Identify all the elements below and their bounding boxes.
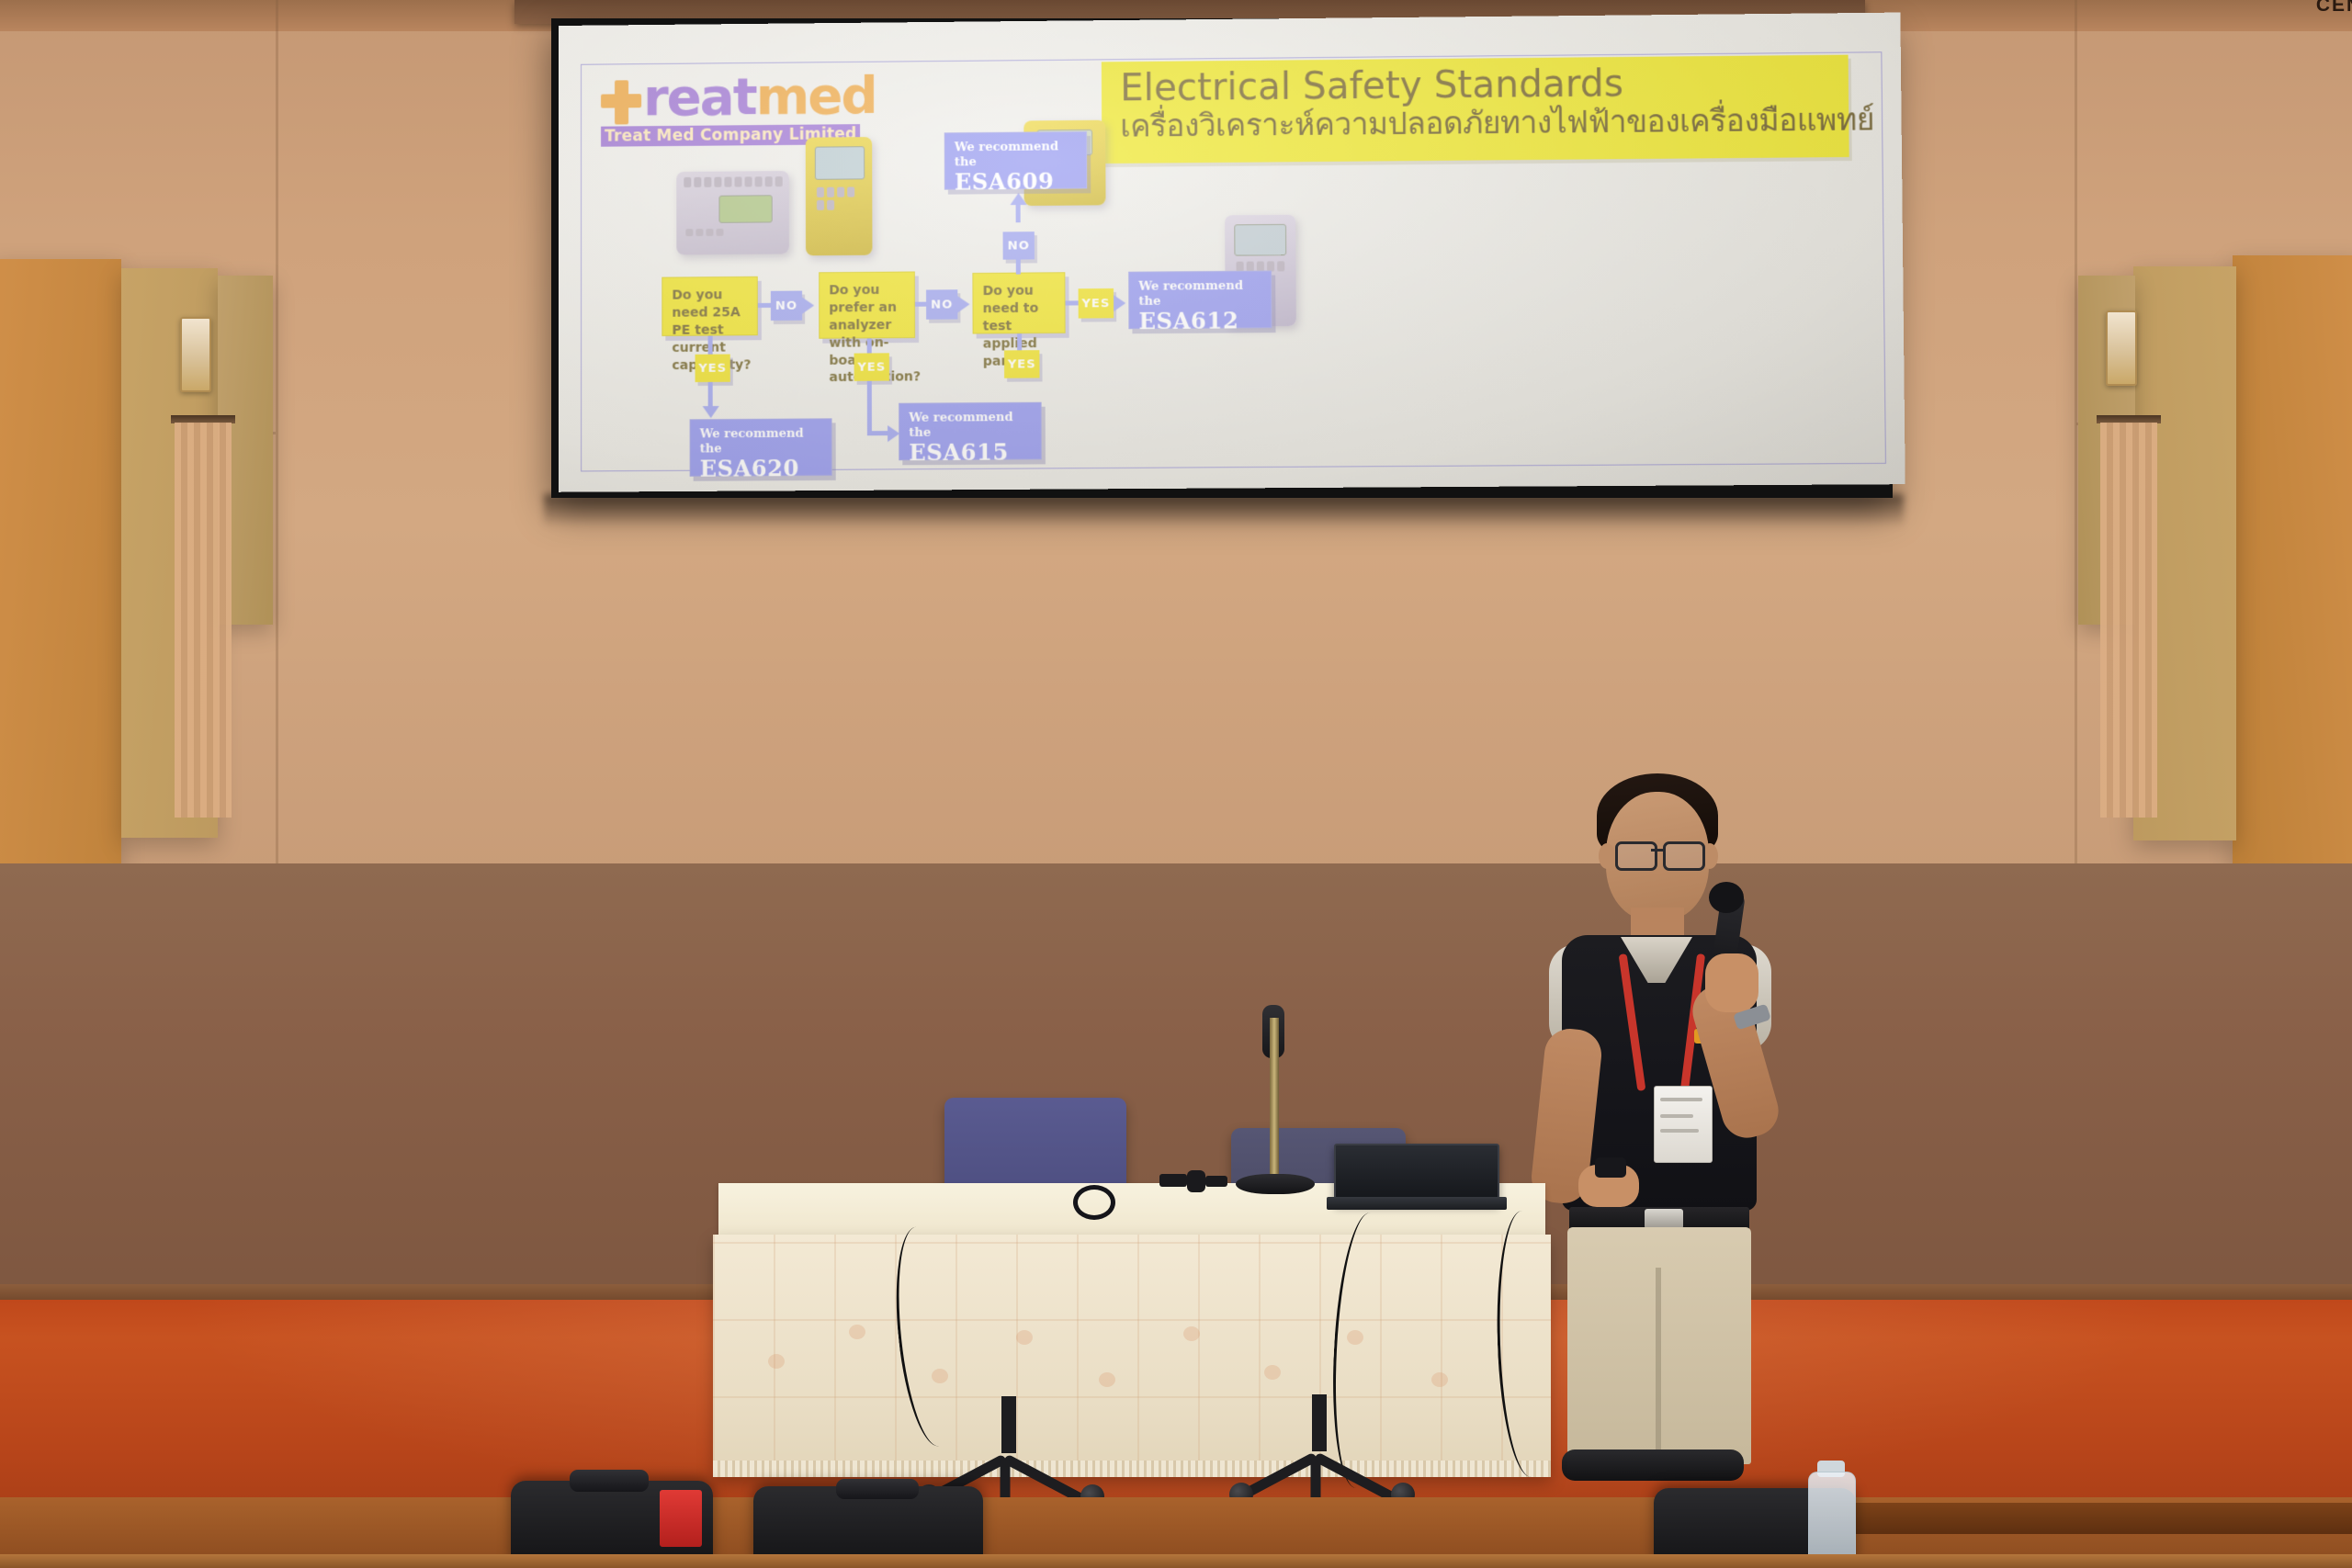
curtain-right (2100, 423, 2157, 818)
recommend-model-612: ESA612 (1138, 308, 1261, 334)
analyzer-device-esa620-image (676, 171, 789, 254)
acoustic-panel-right-outer (2233, 255, 2352, 866)
connector-d2-yes-right (867, 431, 888, 435)
case-handle-1 (570, 1470, 649, 1492)
decision-box-2: Do you prefer an analyzer with on-board … (819, 271, 915, 338)
shoe-right (1641, 1450, 1744, 1481)
beam-room-name: CENTER (2242, 0, 2352, 18)
glasses-bridge (1651, 849, 1664, 852)
presenter-hand-right (1705, 953, 1758, 1012)
connector-d3-no-up (1016, 202, 1021, 222)
connector-d1-yes-down (708, 336, 713, 355)
slide-surface: reatmed Treat Med Company Limited Electr… (559, 13, 1905, 492)
logo-text-reat: reat (643, 67, 756, 128)
spare-microphone-on-table (1159, 1168, 1227, 1196)
arrow-right-2 (957, 296, 969, 312)
decision-box-1: Do you need 25A PE test current capabili… (661, 276, 758, 336)
connector-d1-no (758, 303, 771, 308)
screen-drop-shadow (544, 494, 1904, 527)
recommend-box-esa612: We recommend the ESA612 (1128, 270, 1272, 329)
connector-d2-no (915, 302, 926, 307)
red-object-foreground (660, 1490, 702, 1547)
recommend-prefix-615: We recommend the (909, 411, 1031, 440)
id-badge (1654, 1086, 1713, 1163)
arrow-right-1 (802, 297, 814, 313)
recommend-prefix-620: We recommend the (700, 426, 822, 456)
decision-box-3: Do you need to test applied parts? (972, 272, 1065, 333)
recommend-box-esa609: We recommend the ESA609 (944, 131, 1088, 190)
label-no-3: NO (1003, 231, 1035, 259)
water-bottle (1808, 1472, 1856, 1565)
label-yes-4: YES (1004, 350, 1040, 378)
microphone-head (1709, 882, 1744, 913)
projection-screen: reatmed Treat Med Company Limited Electr… (551, 18, 1893, 498)
slide-title-banner: Electrical Safety Standards เครื่องวิเคร… (1102, 55, 1849, 164)
foreground-dark-strip (1801, 1503, 2352, 1534)
connector-d1-yes-down2 (708, 382, 713, 406)
connector-d2-yes-down (867, 338, 872, 353)
trouser-seam (1656, 1268, 1661, 1464)
presenter-ear-left (1599, 843, 1615, 869)
tablecloth-lace-trim (713, 1461, 1551, 1477)
acoustic-panel-left-outer (0, 259, 121, 865)
desk-microphone-base (1236, 1174, 1315, 1194)
headset-on-table (1073, 1185, 1115, 1220)
label-yes-2: YES (854, 353, 889, 381)
laptop[interactable] (1327, 1144, 1494, 1208)
connector-d3-no-down (1016, 260, 1021, 275)
connector-d3-yes (1065, 300, 1078, 305)
glasses-icon (1663, 841, 1705, 871)
label-yes-1: YES (695, 355, 730, 382)
arrow-down-1 (703, 406, 719, 418)
recommend-model-620: ESA620 (700, 456, 822, 482)
presenter (1525, 753, 1792, 1479)
label-no-1: NO (771, 291, 802, 321)
label-yes-3: YES (1079, 288, 1114, 319)
medical-cross-icon (601, 80, 641, 124)
connector-d2-yes-down2 (867, 381, 872, 435)
slide-title-thai: เครื่องวิเคราะห์ความปลอดภัยทางไฟฟ้าของเค… (1120, 103, 1834, 143)
analyzer-device-esa615-image (806, 137, 873, 255)
presentation-room-photo: CENTER reatmed Treat Med Company Limited… (0, 0, 2352, 1568)
label-no-2: NO (926, 289, 957, 319)
arrow-right-3 (1114, 295, 1125, 311)
desk-microphone-stand (1270, 1018, 1279, 1185)
curtain-left (175, 423, 232, 818)
glasses-icon (1615, 841, 1657, 871)
belt-buckle (1645, 1209, 1683, 1229)
presentation-clicker (1595, 1157, 1626, 1178)
recommend-prefix-612: We recommend the (1138, 279, 1261, 309)
lace-tablecloth (713, 1235, 1551, 1475)
wall-light-fixture-left (180, 317, 211, 392)
recommend-model-615: ESA615 (909, 439, 1031, 466)
foreground-wooden-rail (0, 1554, 2352, 1568)
recommend-model-609: ESA609 (955, 168, 1077, 195)
logo-text-med: med (756, 66, 876, 127)
connector-d3-down-stub (1017, 333, 1022, 350)
laptop-base (1327, 1197, 1507, 1210)
slide-title-english: Electrical Safety Standards (1120, 62, 1834, 108)
laptop-screen (1334, 1144, 1499, 1204)
wall-light-fixture-right (2106, 310, 2137, 386)
recommend-prefix-609: We recommend the (955, 140, 1077, 170)
case-handle-2 (836, 1479, 919, 1499)
recommend-box-esa620: We recommend the ESA620 (690, 418, 832, 476)
recommend-box-esa615: We recommend the ESA615 (899, 402, 1042, 461)
